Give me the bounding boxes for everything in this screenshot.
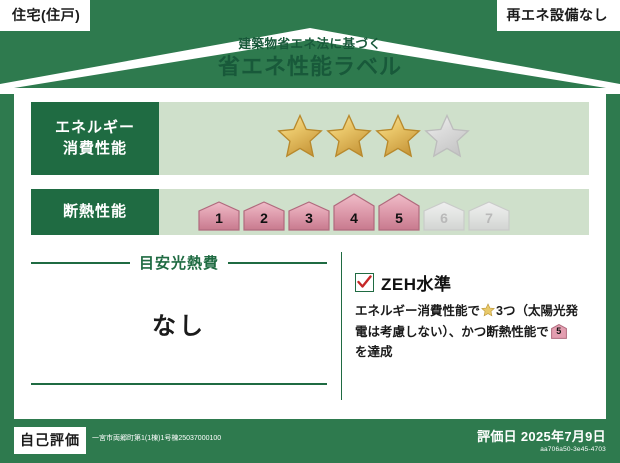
insulation-grade-scale: 1234567 — [198, 193, 510, 231]
energy-performance-row: エネルギー 消費性能 — [31, 102, 589, 175]
insulation-performance-row: 断熱性能 1234567 — [31, 189, 589, 235]
inline-grade-badge: 5 — [551, 324, 567, 339]
insulation-grade-7: 7 — [468, 201, 510, 231]
utility-cost-heading-text: 目安光熱費 — [130, 252, 228, 273]
star-rating — [277, 113, 470, 164]
evaluation-date-label: 評価日 — [477, 429, 517, 444]
energy-performance-value — [159, 102, 589, 175]
utility-cost-column: 目安光熱費 なし — [31, 248, 341, 406]
roof-shape — [0, 28, 620, 94]
insulation-grade-1: 1 — [198, 201, 240, 231]
evaluation-date-line: 評価日 2025年7月9日 — [477, 426, 606, 445]
utility-cost-bottom-rule — [31, 383, 327, 385]
insulation-label-text: 断熱性能 — [63, 202, 127, 222]
evaluation-date-block: 評価日 2025年7月9日 aa706a50-3e45-4703 — [477, 426, 606, 453]
insulation-performance-label: 断熱性能 — [31, 189, 159, 235]
utility-cost-heading: 目安光熱費 — [31, 252, 327, 273]
zeh-desc-part1: エネルギー消費性能で — [355, 304, 480, 318]
star-filled-icon — [326, 113, 372, 164]
insulation-grade-2: 2 — [243, 201, 285, 231]
star-filled-icon — [277, 113, 323, 164]
heading-rule-left — [31, 262, 130, 264]
utility-cost-value: なし — [31, 306, 327, 341]
document-code: aa706a50-3e45-4703 — [477, 446, 606, 453]
energy-label-line2: 消費性能 — [63, 139, 127, 159]
zeh-desc-part3: を達成 — [355, 345, 393, 359]
energy-performance-label: エネルギー 消費性能 — [31, 102, 159, 175]
check-icon — [357, 275, 372, 290]
lower-section: 目安光熱費 なし ZEH水準 エネルギー消費性能で3つ（太陽 — [31, 248, 589, 406]
insulation-grade-3: 3 — [288, 201, 330, 231]
energy-label-line1: エネルギー — [55, 118, 135, 138]
insulation-grade-number: 3 — [288, 210, 330, 226]
zeh-column: ZEH水準 エネルギー消費性能で3つ（太陽光発電は考慮しない）、かつ断熱性能で5… — [342, 248, 589, 406]
insulation-grade-4: 4 — [333, 193, 375, 231]
energy-performance-label: 住宅(住戸) 再エネ設備なし 建築物省エネ法に基づく 省エネ性能ラベル エネルギ… — [0, 0, 620, 463]
star-empty-icon — [424, 113, 470, 164]
insulation-grade-5: 5 — [378, 193, 420, 231]
self-evaluation-badge: 自己評価 — [14, 427, 86, 454]
zeh-title: ZEH水準 — [381, 270, 452, 295]
insulation-grade-number: 2 — [243, 210, 285, 226]
zeh-desc-part2: は考慮しない）、かつ断熱性能で — [368, 325, 549, 339]
zeh-heading: ZEH水準 — [355, 270, 589, 295]
insulation-grade-6: 6 — [423, 201, 465, 231]
evaluation-date-value: 2025年7月9日 — [521, 429, 606, 444]
insulation-grade-number: 4 — [333, 210, 375, 226]
zeh-description: エネルギー消費性能で3つ（太陽光発電は考慮しない）、かつ断熱性能で5を達成 — [355, 302, 581, 362]
inline-star-icon — [481, 306, 495, 320]
insulation-grade-number: 5 — [378, 210, 420, 226]
heading-rule-right — [228, 262, 327, 264]
insulation-grade-number: 6 — [423, 210, 465, 226]
address-and-id: 一宮市両郷町第1(1棟)1号棟25037000100 — [92, 433, 221, 443]
zeh-checkbox[interactable] — [355, 273, 374, 292]
insulation-grade-number: 7 — [468, 210, 510, 226]
label-footer: 自己評価 一宮市両郷町第1(1棟)1号棟25037000100 評価日 2025… — [0, 424, 620, 463]
inline-grade-number: 5 — [551, 325, 567, 339]
insulation-grade-number: 1 — [198, 210, 240, 226]
renewable-equipment-tag: 再エネ設備なし — [497, 0, 620, 31]
building-type-tag: 住宅(住戸) — [0, 0, 90, 31]
label-body-panel: エネルギー 消費性能 断熱性能 1234567 目安光熱費 — [14, 88, 606, 419]
insulation-performance-value: 1234567 — [159, 189, 589, 235]
star-filled-icon — [375, 113, 421, 164]
